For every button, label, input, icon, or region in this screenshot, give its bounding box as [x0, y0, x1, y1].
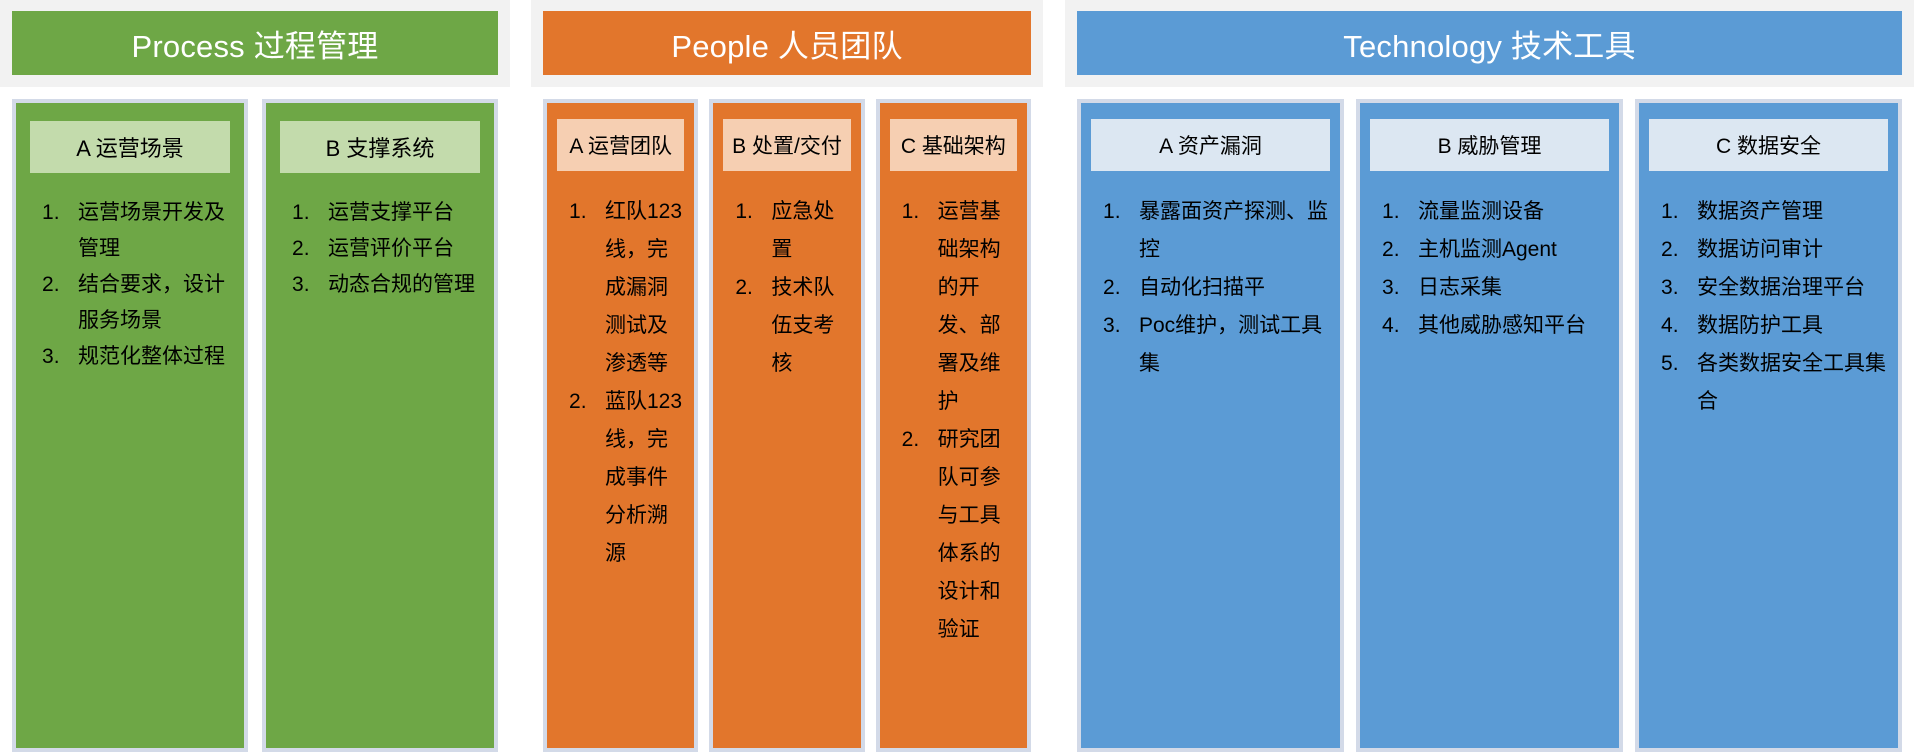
list-item: 主机监测Agent	[1360, 231, 1609, 269]
list-item: 安全数据治理平台	[1639, 269, 1888, 307]
list-item: 自动化扫描平	[1081, 269, 1330, 307]
subbox-list-technology-c: 数据资产管理 数据访问审计 安全数据治理平台 数据防护工具 各类数据安全工具集合	[1639, 193, 1898, 421]
subbox-list-people-a: 红队123线，完成漏洞测试及渗透等 蓝队123线，完成事件分析溯源	[547, 193, 694, 573]
pillar-technology: Technology 技术工具 A 资产漏洞 暴露面资产探测、监控 自动化扫描平…	[1065, 0, 1914, 752]
subbox-process-b[interactable]: B 支撑系统 运营支撑平台 运营评价平台 动态合规的管理	[262, 99, 498, 752]
list-item: 其他威胁感知平台	[1360, 307, 1609, 345]
list-item: 蓝队123线，完成事件分析溯源	[547, 383, 684, 573]
subbox-label-people-b: B 处置/交付	[723, 119, 850, 171]
subbox-label-people-c: C 基础架构	[890, 119, 1017, 171]
list-item: 规范化整体过程	[16, 339, 234, 375]
subbox-row-process: A 运营场景 运营场景开发及管理 结合要求，设计服务场景 规范化整体过程 B 支…	[0, 99, 510, 752]
subbox-technology-c[interactable]: C 数据安全 数据资产管理 数据访问审计 安全数据治理平台 数据防护工具 各类数…	[1635, 99, 1902, 752]
list-item: 结合要求，设计服务场景	[16, 267, 234, 339]
subbox-people-b[interactable]: B 处置/交付 应急处置 技术队伍支考核	[709, 99, 864, 752]
pillar-title-people: People 人员团队	[543, 11, 1031, 75]
list-item: 红队123线，完成漏洞测试及渗透等	[547, 193, 684, 383]
list-item: Poc维护，测试工具集	[1081, 307, 1330, 383]
subbox-list-people-c: 运营基础架构的开发、部署及维护 研究团队可参与工具体系的设计和验证	[880, 193, 1027, 649]
subbox-row-technology: A 资产漏洞 暴露面资产探测、监控 自动化扫描平 Poc维护，测试工具集 B 威…	[1065, 99, 1914, 752]
subbox-people-a[interactable]: A 运营团队 红队123线，完成漏洞测试及渗透等 蓝队123线，完成事件分析溯源	[543, 99, 698, 752]
list-item: 动态合规的管理	[266, 267, 484, 303]
subbox-label-people-a: A 运营团队	[557, 119, 684, 171]
list-item: 运营基础架构的开发、部署及维护	[880, 193, 1017, 421]
list-item: 数据资产管理	[1639, 193, 1888, 231]
pillar-header-frame-people: People 人员团队	[531, 0, 1043, 87]
pillar-title-technology: Technology 技术工具	[1077, 11, 1902, 75]
subbox-list-technology-a: 暴露面资产探测、监控 自动化扫描平 Poc维护，测试工具集	[1081, 193, 1340, 383]
subbox-list-process-b: 运营支撑平台 运营评价平台 动态合规的管理	[266, 195, 494, 303]
list-item: 应急处置	[713, 193, 850, 269]
subbox-label-technology-b: B 威胁管理	[1370, 119, 1609, 171]
list-item: 运营场景开发及管理	[16, 195, 234, 267]
subbox-row-people: A 运营团队 红队123线，完成漏洞测试及渗透等 蓝队123线，完成事件分析溯源…	[531, 99, 1043, 752]
subbox-label-technology-a: A 资产漏洞	[1091, 119, 1330, 171]
subbox-label-process-b: B 支撑系统	[280, 121, 480, 173]
ppt-three-pillar-diagram: Process 过程管理 A 运营场景 运营场景开发及管理 结合要求，设计服务场…	[0, 0, 1914, 752]
subbox-process-a[interactable]: A 运营场景 运营场景开发及管理 结合要求，设计服务场景 规范化整体过程	[12, 99, 248, 752]
list-item: 技术队伍支考核	[713, 269, 850, 383]
subbox-technology-a[interactable]: A 资产漏洞 暴露面资产探测、监控 自动化扫描平 Poc维护，测试工具集	[1077, 99, 1344, 752]
pillar-people: People 人员团队 A 运营团队 红队123线，完成漏洞测试及渗透等 蓝队1…	[531, 0, 1043, 752]
pillar-header-frame-process: Process 过程管理	[0, 0, 510, 87]
pillar-header-frame-technology: Technology 技术工具	[1065, 0, 1914, 87]
subbox-label-technology-c: C 数据安全	[1649, 119, 1888, 171]
list-item: 流量监测设备	[1360, 193, 1609, 231]
subbox-list-people-b: 应急处置 技术队伍支考核	[713, 193, 860, 383]
list-item: 运营评价平台	[266, 231, 484, 267]
pillar-process: Process 过程管理 A 运营场景 运营场景开发及管理 结合要求，设计服务场…	[0, 0, 510, 752]
list-item: 运营支撑平台	[266, 195, 484, 231]
list-item: 研究团队可参与工具体系的设计和验证	[880, 421, 1017, 649]
list-item: 数据访问审计	[1639, 231, 1888, 269]
subbox-people-c[interactable]: C 基础架构 运营基础架构的开发、部署及维护 研究团队可参与工具体系的设计和验证	[876, 99, 1031, 752]
subbox-label-process-a: A 运营场景	[30, 121, 230, 173]
subbox-list-process-a: 运营场景开发及管理 结合要求，设计服务场景 规范化整体过程	[16, 195, 244, 375]
subbox-list-technology-b: 流量监测设备 主机监测Agent 日志采集 其他威胁感知平台	[1360, 193, 1619, 345]
list-item: 各类数据安全工具集合	[1639, 345, 1888, 421]
subbox-technology-b[interactable]: B 威胁管理 流量监测设备 主机监测Agent 日志采集 其他威胁感知平台	[1356, 99, 1623, 752]
pillar-title-process: Process 过程管理	[12, 11, 498, 75]
list-item: 日志采集	[1360, 269, 1609, 307]
list-item: 暴露面资产探测、监控	[1081, 193, 1330, 269]
list-item: 数据防护工具	[1639, 307, 1888, 345]
